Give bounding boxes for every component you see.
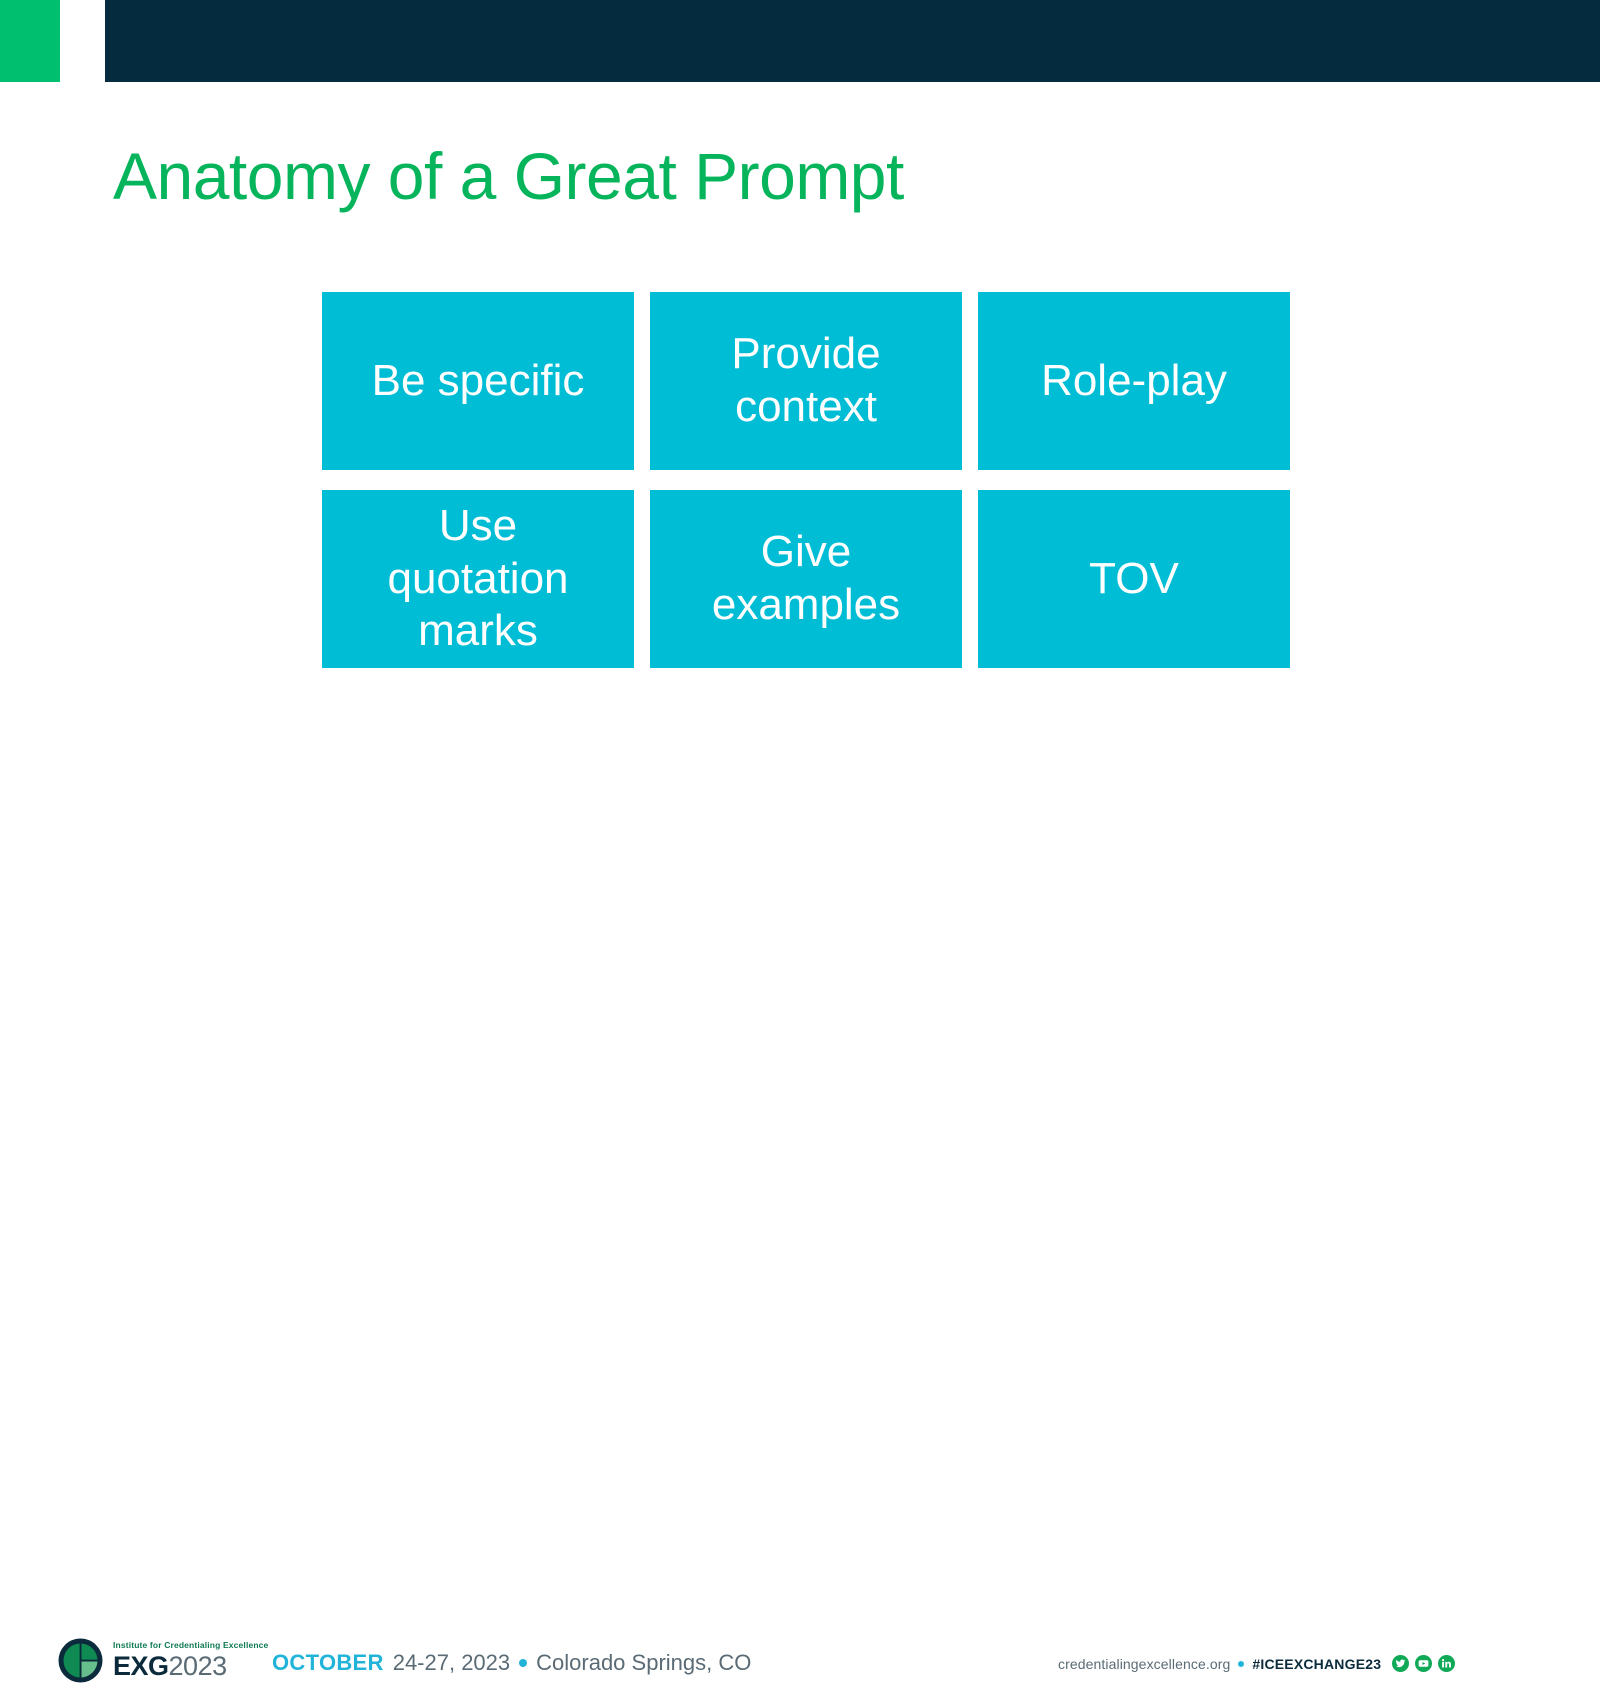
- card-line: Provide: [731, 328, 880, 381]
- card-line: Give: [712, 526, 900, 579]
- card-give-examples[interactable]: Give examples: [650, 490, 962, 668]
- card-line: Role-play: [1041, 355, 1227, 408]
- card-line: TOV: [1089, 553, 1179, 606]
- ice-logo: Institute for Credentialing Excellence E…: [57, 1637, 268, 1684]
- prompt-anatomy-grid: Be specific Provide context Role-play Us…: [322, 292, 1290, 668]
- website-url[interactable]: credentialingexcellence.org: [1058, 1657, 1230, 1671]
- card-line: context: [731, 381, 880, 434]
- header-bar: [105, 0, 1600, 82]
- card-line: quotation: [387, 553, 568, 606]
- event-dates: 24-27, 2023: [393, 1652, 510, 1674]
- card-tov[interactable]: TOV: [978, 490, 1290, 668]
- twitter-icon[interactable]: [1392, 1655, 1409, 1672]
- card-line: Use: [387, 500, 568, 553]
- social-links: [1392, 1655, 1455, 1672]
- card-role-play[interactable]: Role-play: [978, 292, 1290, 470]
- card-line: Be specific: [372, 355, 585, 408]
- bullet-separator-icon: [519, 1659, 527, 1667]
- event-month: OCTOBER: [272, 1652, 384, 1674]
- card-line: marks: [387, 605, 568, 658]
- footer-links: credentialingexcellence.org #ICEEXCHANGE…: [1058, 1655, 1455, 1672]
- event-details: OCTOBER 24-27, 2023 Colorado Springs, CO: [272, 1652, 751, 1674]
- ice-logo-text: Institute for Credentialing Excellence E…: [113, 1641, 268, 1680]
- bullet-separator-icon: [1238, 1661, 1244, 1667]
- slide-footer: Institute for Credentialing Excellence E…: [0, 810, 1600, 900]
- header-accent-block: [0, 0, 60, 82]
- card-provide-context[interactable]: Provide context: [650, 292, 962, 470]
- ice-circle-logo-icon: [57, 1637, 104, 1684]
- ice-logo-tagline: Institute for Credentialing Excellence: [113, 1641, 268, 1650]
- page-title: Anatomy of a Great Prompt: [113, 139, 904, 215]
- linkedin-icon[interactable]: [1438, 1655, 1455, 1672]
- ice-logo-wordmark: EXG2023: [113, 1653, 268, 1680]
- card-line: examples: [712, 579, 900, 632]
- card-be-specific[interactable]: Be specific: [322, 292, 634, 470]
- youtube-icon[interactable]: [1415, 1655, 1432, 1672]
- card-use-quotation-marks[interactable]: Use quotation marks: [322, 490, 634, 668]
- event-location: Colorado Springs, CO: [536, 1652, 751, 1674]
- ice-logo-exg: EXG: [113, 1651, 169, 1681]
- ice-logo-year: 2023: [169, 1651, 227, 1681]
- event-hashtag: #ICEEXCHANGE23: [1252, 1657, 1381, 1671]
